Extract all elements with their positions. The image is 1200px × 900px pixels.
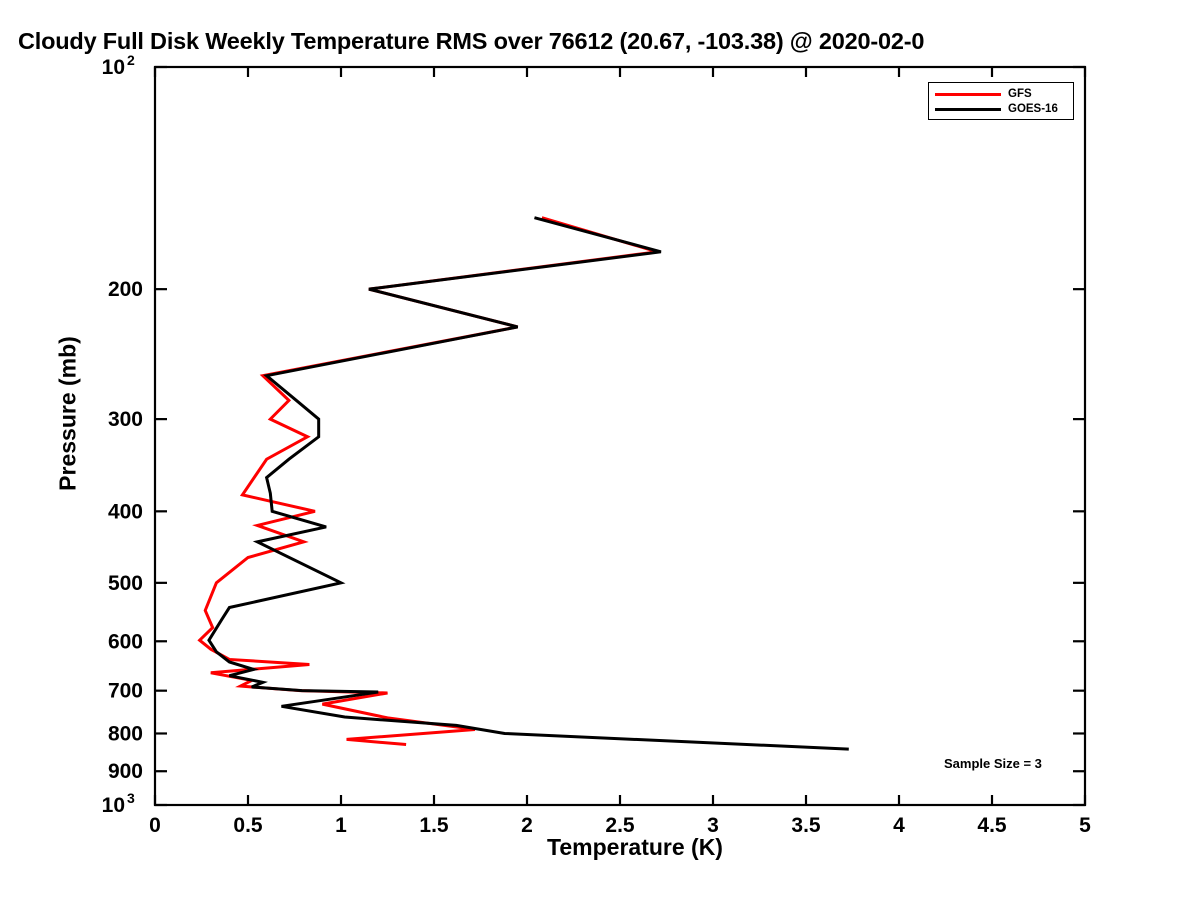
y-tick-label-exponent: 3 — [127, 790, 135, 806]
y-tick-label: 800 — [108, 722, 143, 745]
y-tick-label: 10 — [102, 794, 125, 817]
figure-canvas: Cloudy Full Disk Weekly Temperature RMS … — [0, 0, 1200, 900]
y-tick-label: 500 — [108, 572, 143, 595]
series-line-goes-16 — [209, 218, 849, 749]
y-tick-label: 300 — [108, 408, 143, 431]
plot-frame — [155, 67, 1085, 805]
legend-label-goes16: GOES-16 — [1008, 103, 1058, 115]
legend-swatch-goes16-icon — [935, 108, 1001, 111]
y-tick-label-exponent: 2 — [127, 52, 135, 68]
y-axis-label: Pressure (mb) — [55, 284, 82, 544]
legend: GFS GOES-16 — [928, 82, 1074, 120]
legend-item-goes16: GOES-16 — [935, 102, 1058, 116]
y-tick-label: 10 — [102, 56, 125, 79]
sample-size-annotation: Sample Size = 3 — [944, 756, 1042, 771]
legend-swatch-gfs-icon — [935, 93, 1001, 96]
y-tick-label: 900 — [108, 760, 143, 783]
y-tick-label: 200 — [108, 278, 143, 301]
y-tick-label: 700 — [108, 680, 143, 703]
y-tick-label: 400 — [108, 500, 143, 523]
y-tick-label: 600 — [108, 630, 143, 653]
legend-item-gfs: GFS — [935, 87, 1032, 101]
legend-label-gfs: GFS — [1008, 88, 1032, 100]
x-axis-label: Temperature (K) — [0, 834, 1200, 861]
